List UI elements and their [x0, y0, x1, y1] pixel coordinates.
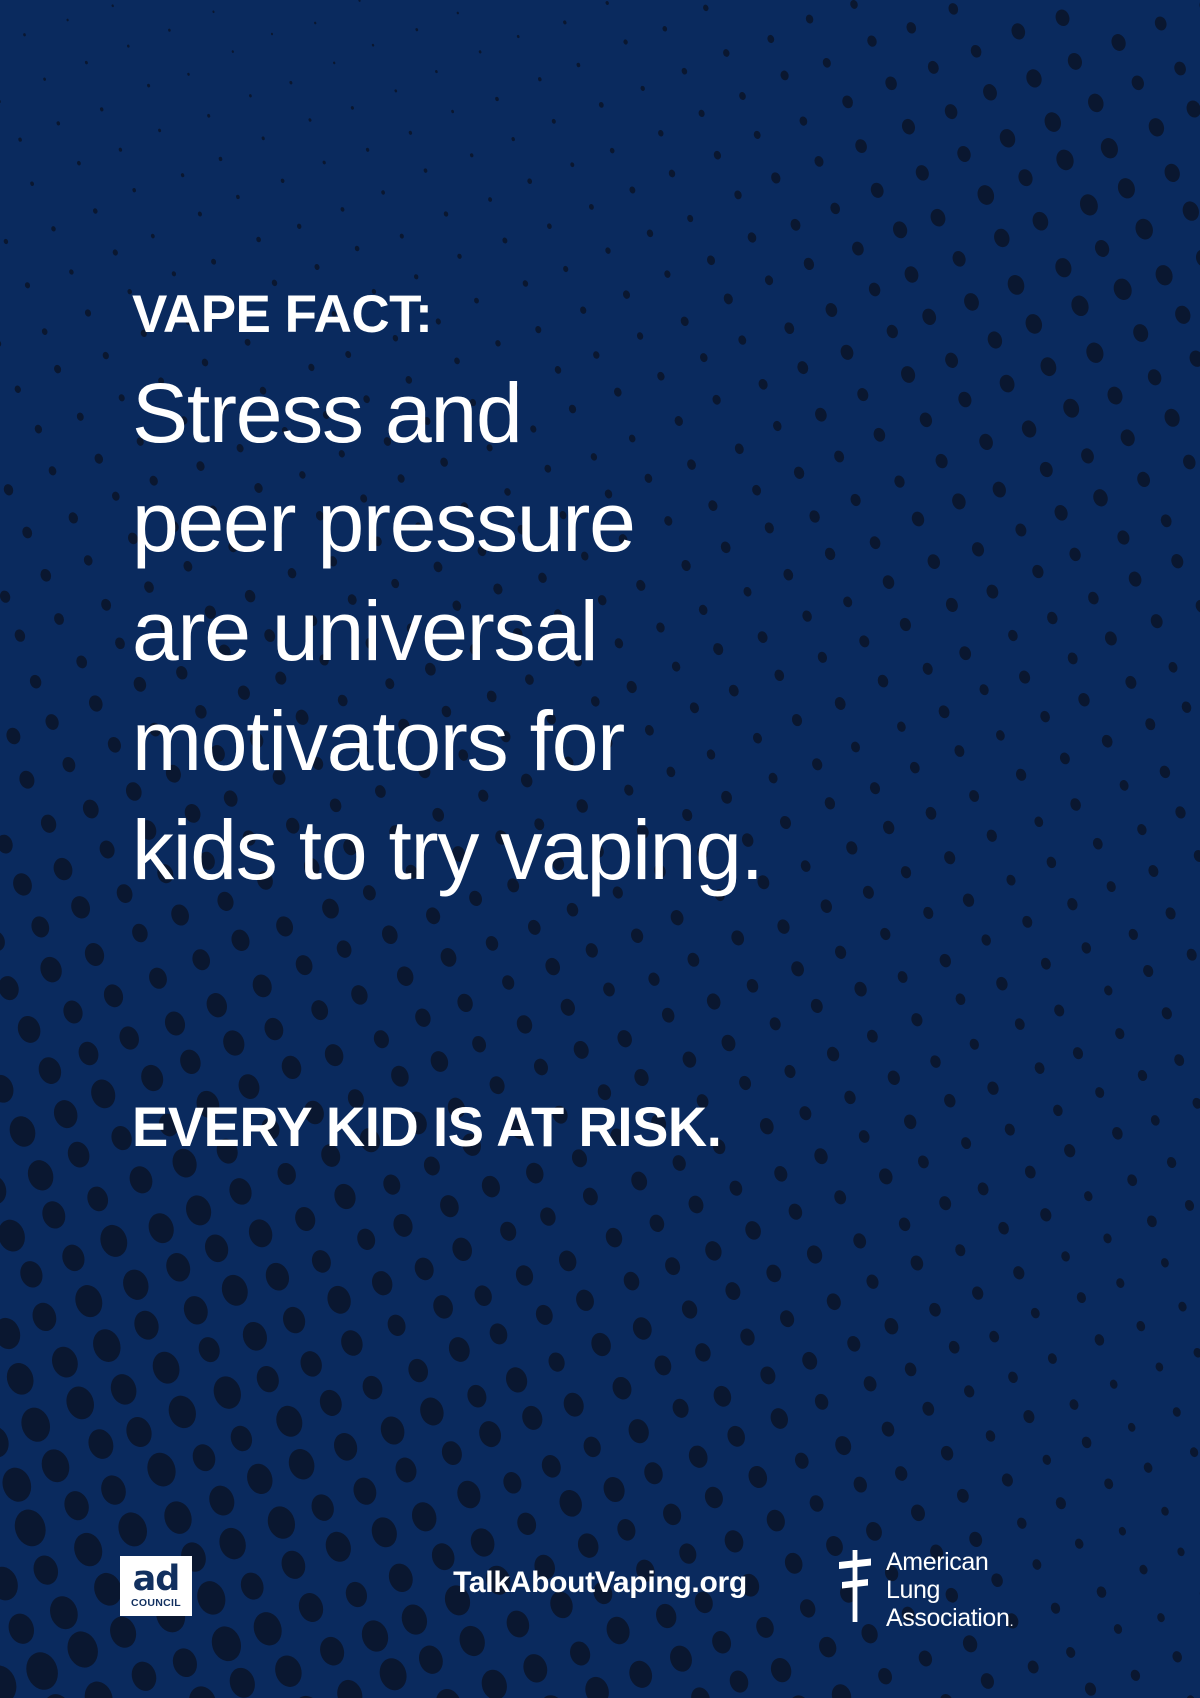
vape-fact-poster: VAPE FACT: Stress and peer pressure are …	[0, 0, 1200, 1698]
fact-line: kids to try vaping.	[132, 796, 1012, 905]
footer: ad COUNCIL TalkAboutVaping.org American …	[0, 1540, 1200, 1640]
campaign-url[interactable]: TalkAboutVaping.org	[0, 1566, 1200, 1600]
ala-line-1: American	[886, 1548, 1013, 1576]
lung-association-cross-icon	[838, 1550, 872, 1627]
eyebrow-label: VAPE FACT:	[132, 288, 1012, 341]
fact-line: Stress and	[132, 359, 1012, 468]
fact-line: motivators for	[132, 687, 1012, 796]
american-lung-association-logo[interactable]: American Lung Association.	[838, 1548, 1013, 1632]
ala-line-2: Lung	[886, 1576, 1013, 1604]
fact-line: peer pressure	[132, 468, 1012, 577]
registered-mark: .	[1009, 1613, 1013, 1630]
lung-association-wordmark: American Lung Association.	[886, 1548, 1013, 1632]
tagline: EVERY KID IS AT RISK.	[132, 1098, 721, 1157]
fact-line: are universal	[132, 577, 1012, 686]
ala-line-3: Association.	[886, 1604, 1013, 1632]
fact-statement: Stress and peer pressure are universal m…	[132, 359, 1012, 905]
headline-block: VAPE FACT: Stress and peer pressure are …	[132, 288, 1012, 905]
ala-line-3-text: Association	[886, 1604, 1009, 1632]
